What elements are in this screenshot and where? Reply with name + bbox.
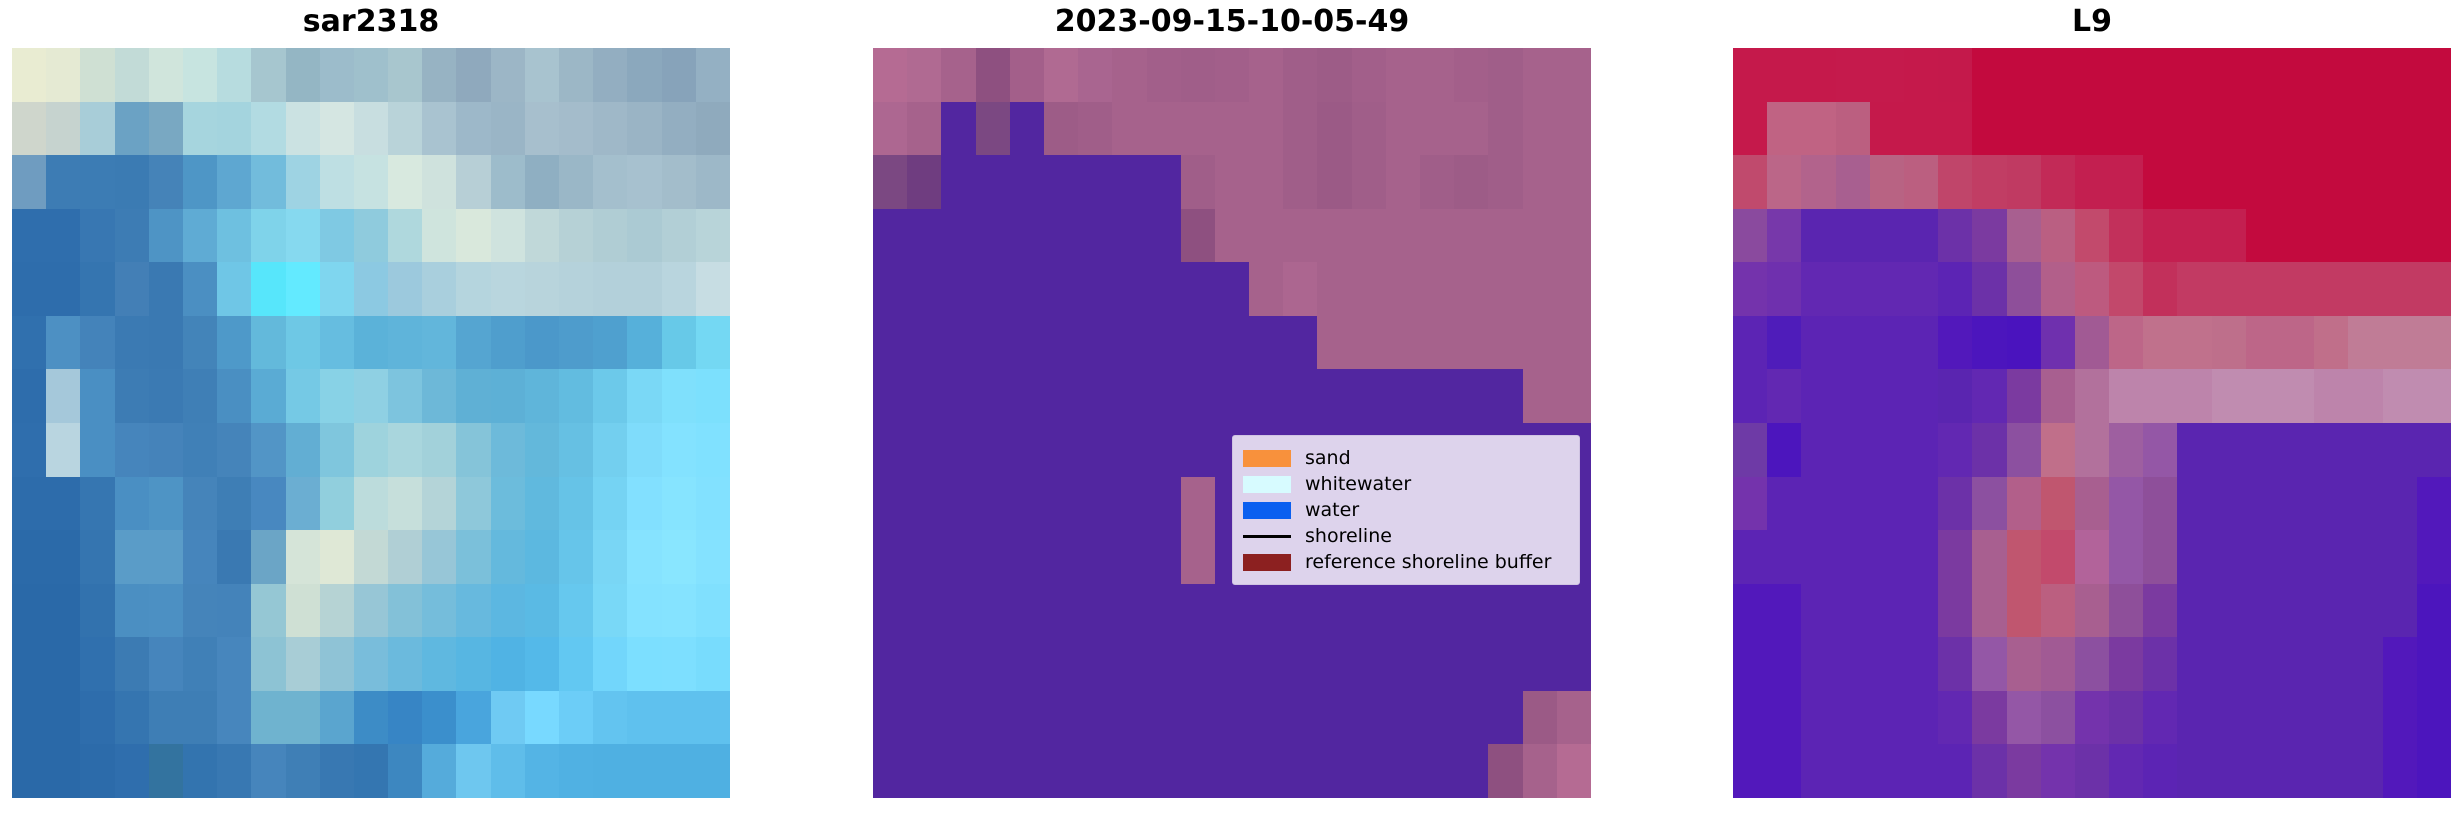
raster-cell	[286, 530, 320, 584]
raster-cell	[941, 423, 975, 477]
raster-cell	[1249, 155, 1283, 209]
raster-cell	[388, 155, 422, 209]
raster-cell	[491, 209, 525, 263]
raster-cell	[320, 316, 354, 370]
raster-cell	[525, 744, 559, 798]
raster-cell	[1523, 102, 1557, 156]
raster-cell	[1488, 369, 1522, 423]
raster-cell	[217, 530, 251, 584]
raster-cell	[2143, 423, 2177, 477]
raster-cell	[1904, 102, 1938, 156]
raster-cell	[1181, 209, 1215, 263]
raster-cell	[1352, 262, 1386, 316]
raster-cell	[2212, 48, 2246, 102]
raster-cell	[2177, 423, 2211, 477]
raster-cell	[1488, 691, 1522, 745]
raster-cell	[217, 423, 251, 477]
raster-cell	[2417, 637, 2451, 691]
raster-cell	[2348, 637, 2382, 691]
raster-cell	[1181, 423, 1215, 477]
raster-cell	[1352, 316, 1386, 370]
raster-cell	[662, 691, 696, 745]
raster-cell	[1078, 477, 1112, 531]
raster-cell	[2177, 584, 2211, 638]
raster-cell	[1523, 209, 1557, 263]
panel-sar: sar2318	[12, 0, 730, 817]
raster-cell	[627, 262, 661, 316]
raster-grid-classification	[873, 48, 1591, 798]
raster-cell	[941, 691, 975, 745]
raster-cell	[1010, 209, 1044, 263]
raster-cell	[1733, 262, 1767, 316]
raster-cell	[559, 744, 593, 798]
raster-cell	[2314, 584, 2348, 638]
raster-cell	[2041, 530, 2075, 584]
raster-cell	[2007, 48, 2041, 102]
legend-item-reference-shoreline-buffer: reference shoreline buffer	[1243, 549, 1569, 575]
raster-cell	[251, 209, 285, 263]
raster-cell	[251, 369, 285, 423]
raster-cell	[559, 209, 593, 263]
raster-cell	[2212, 102, 2246, 156]
raster-cell	[1044, 369, 1078, 423]
raster-cell	[354, 48, 388, 102]
raster-cell	[1557, 691, 1591, 745]
raster-cell	[183, 48, 217, 102]
raster-cell	[115, 530, 149, 584]
raster-cell	[1733, 477, 1767, 531]
raster-cell	[286, 102, 320, 156]
raster-cell	[593, 637, 627, 691]
raster-cell	[1938, 102, 1972, 156]
raster-cell	[1972, 584, 2006, 638]
legend-item-sand: sand	[1243, 445, 1569, 471]
raster-cell	[2280, 155, 2314, 209]
raster-cell	[149, 744, 183, 798]
legend-swatch-shoreline	[1243, 535, 1291, 538]
raster-cell	[2109, 262, 2143, 316]
raster-cell	[354, 316, 388, 370]
raster-cell	[2007, 155, 2041, 209]
raster-cell	[976, 262, 1010, 316]
raster-cell	[1147, 262, 1181, 316]
raster-cell	[2109, 691, 2143, 745]
raster-cell	[2280, 530, 2314, 584]
raster-cell	[2212, 155, 2246, 209]
raster-cell	[320, 369, 354, 423]
raster-cell	[2212, 637, 2246, 691]
raster-cell	[2417, 530, 2451, 584]
raster-cell	[525, 691, 559, 745]
raster-cell	[1488, 744, 1522, 798]
raster-cell	[1181, 155, 1215, 209]
raster-cell	[320, 423, 354, 477]
raster-cell	[286, 262, 320, 316]
raster-cell	[1420, 316, 1454, 370]
raster-cell	[422, 477, 456, 531]
raster-cell	[1938, 691, 1972, 745]
raster-cell	[2383, 423, 2417, 477]
raster-cell	[1870, 637, 1904, 691]
raster-cell	[525, 209, 559, 263]
raster-cell	[2246, 209, 2280, 263]
raster-cell	[1733, 691, 1767, 745]
raster-cell	[1523, 155, 1557, 209]
raster-cell	[1249, 262, 1283, 316]
raster-cell	[2212, 209, 2246, 263]
raster-cell	[696, 584, 730, 638]
raster-cell	[662, 744, 696, 798]
raster-cell	[873, 584, 907, 638]
raster-cell	[2075, 155, 2109, 209]
raster-cell	[388, 477, 422, 531]
raster-cell	[1523, 744, 1557, 798]
raster-cell	[662, 477, 696, 531]
panel-classification: 2023-09-15-10-05-49 sand whitewater wate…	[873, 0, 1591, 817]
raster-cell	[1904, 209, 1938, 263]
raster-cell	[662, 369, 696, 423]
panel-l9: L9	[1733, 0, 2451, 817]
raster-cell	[1044, 316, 1078, 370]
raster-cell	[46, 691, 80, 745]
raster-cell	[941, 369, 975, 423]
raster-cell	[1801, 637, 1835, 691]
raster-cell	[2075, 477, 2109, 531]
raster-cell	[1044, 744, 1078, 798]
raster-cell	[1904, 155, 1938, 209]
raster-cell	[1386, 155, 1420, 209]
raster-cell	[1801, 316, 1835, 370]
raster-cell	[80, 637, 114, 691]
raster-cell	[2417, 155, 2451, 209]
raster-cell	[1801, 423, 1835, 477]
raster-cell	[1147, 316, 1181, 370]
raster-cell	[941, 584, 975, 638]
raster-cell	[696, 530, 730, 584]
raster-cell	[1283, 262, 1317, 316]
raster-cell	[2348, 316, 2382, 370]
raster-cell	[1215, 262, 1249, 316]
raster-cell	[1181, 316, 1215, 370]
raster-grid-sar	[12, 48, 730, 798]
raster-cell	[2246, 155, 2280, 209]
raster-cell	[12, 48, 46, 102]
legend-item-whitewater: whitewater	[1243, 471, 1569, 497]
raster-cell	[1215, 48, 1249, 102]
raster-cell	[251, 262, 285, 316]
raster-cell	[183, 637, 217, 691]
raster-cell	[976, 530, 1010, 584]
raster-cell	[2383, 102, 2417, 156]
raster-cell	[941, 102, 975, 156]
raster-cell	[1317, 209, 1351, 263]
panel-canvas-l9[interactable]	[1733, 48, 2451, 798]
raster-cell	[2007, 744, 2041, 798]
raster-cell	[1801, 102, 1835, 156]
raster-cell	[286, 637, 320, 691]
raster-cell	[149, 155, 183, 209]
raster-cell	[217, 102, 251, 156]
raster-cell	[1733, 209, 1767, 263]
raster-cell	[1836, 369, 1870, 423]
raster-cell	[1938, 423, 1972, 477]
raster-cell	[217, 48, 251, 102]
raster-cell	[2417, 262, 2451, 316]
raster-cell	[873, 209, 907, 263]
raster-cell	[2417, 477, 2451, 531]
raster-cell	[1317, 744, 1351, 798]
raster-cell	[2417, 691, 2451, 745]
raster-cell	[1078, 262, 1112, 316]
raster-cell	[1767, 155, 1801, 209]
raster-cell	[491, 477, 525, 531]
raster-cell	[1078, 584, 1112, 638]
raster-cell	[2348, 48, 2382, 102]
raster-cell	[1249, 584, 1283, 638]
panel-canvas-sar[interactable]	[12, 48, 730, 798]
raster-cell	[1557, 102, 1591, 156]
raster-cell	[2007, 102, 2041, 156]
raster-cell	[1454, 744, 1488, 798]
raster-cell	[2246, 744, 2280, 798]
raster-cell	[559, 48, 593, 102]
raster-cell	[1112, 48, 1146, 102]
raster-cell	[2348, 477, 2382, 531]
raster-cell	[2007, 316, 2041, 370]
raster-cell	[1112, 316, 1146, 370]
raster-cell	[907, 155, 941, 209]
raster-cell	[1112, 744, 1146, 798]
raster-cell	[976, 369, 1010, 423]
raster-cell	[1283, 369, 1317, 423]
raster-cell	[1010, 584, 1044, 638]
raster-cell	[907, 584, 941, 638]
raster-cell	[2075, 102, 2109, 156]
raster-cell	[1147, 48, 1181, 102]
raster-cell	[941, 262, 975, 316]
raster-cell	[1147, 530, 1181, 584]
raster-cell	[1767, 744, 1801, 798]
raster-cell	[1938, 584, 1972, 638]
raster-cell	[1557, 584, 1591, 638]
raster-cell	[1904, 691, 1938, 745]
raster-cell	[1972, 155, 2006, 209]
raster-cell	[1870, 316, 1904, 370]
raster-cell	[2075, 637, 2109, 691]
raster-cell	[2075, 262, 2109, 316]
raster-cell	[2417, 102, 2451, 156]
raster-cell	[1283, 584, 1317, 638]
raster-cell	[559, 155, 593, 209]
raster-cell	[2280, 637, 2314, 691]
raster-cell	[1147, 744, 1181, 798]
raster-cell	[1870, 209, 1904, 263]
raster-cell	[1078, 369, 1112, 423]
raster-cell	[251, 744, 285, 798]
raster-cell	[1938, 530, 1972, 584]
raster-cell	[873, 155, 907, 209]
raster-cell	[1386, 744, 1420, 798]
raster-cell	[1352, 48, 1386, 102]
raster-cell	[2177, 477, 2211, 531]
raster-cell	[1386, 584, 1420, 638]
raster-cell	[1836, 48, 1870, 102]
raster-cell	[354, 637, 388, 691]
raster-cell	[1181, 691, 1215, 745]
raster-cell	[1112, 530, 1146, 584]
raster-cell	[1181, 48, 1215, 102]
raster-cell	[1283, 48, 1317, 102]
raster-cell	[627, 691, 661, 745]
raster-cell	[1767, 102, 1801, 156]
raster-cell	[1112, 584, 1146, 638]
raster-cell	[388, 691, 422, 745]
raster-cell	[1283, 209, 1317, 263]
raster-cell	[115, 477, 149, 531]
raster-cell	[1249, 691, 1283, 745]
raster-cell	[1249, 637, 1283, 691]
raster-cell	[1420, 209, 1454, 263]
raster-cell	[354, 155, 388, 209]
raster-cell	[354, 209, 388, 263]
raster-cell	[2109, 637, 2143, 691]
raster-cell	[873, 691, 907, 745]
raster-cell	[1767, 316, 1801, 370]
raster-cell	[1352, 102, 1386, 156]
raster-cell	[1044, 637, 1078, 691]
raster-cell	[1454, 209, 1488, 263]
raster-cell	[2007, 369, 2041, 423]
raster-cell	[1044, 155, 1078, 209]
raster-cell	[183, 477, 217, 531]
raster-cell	[662, 530, 696, 584]
raster-cell	[491, 262, 525, 316]
raster-cell	[1283, 155, 1317, 209]
raster-cell	[491, 155, 525, 209]
raster-cell	[149, 48, 183, 102]
raster-cell	[354, 369, 388, 423]
raster-cell	[1249, 744, 1283, 798]
raster-cell	[525, 530, 559, 584]
raster-cell	[1938, 744, 1972, 798]
raster-cell	[2075, 691, 2109, 745]
raster-cell	[1044, 423, 1078, 477]
raster-cell	[2041, 477, 2075, 531]
raster-cell	[1557, 262, 1591, 316]
raster-cell	[976, 744, 1010, 798]
raster-cell	[286, 584, 320, 638]
raster-cell	[354, 423, 388, 477]
raster-cell	[1215, 209, 1249, 263]
raster-cell	[46, 584, 80, 638]
raster-cell	[320, 691, 354, 745]
raster-cell	[80, 423, 114, 477]
raster-cell	[2383, 584, 2417, 638]
raster-cell	[2007, 637, 2041, 691]
raster-cell	[873, 369, 907, 423]
raster-cell	[80, 369, 114, 423]
raster-cell	[1386, 48, 1420, 102]
raster-cell	[559, 691, 593, 745]
raster-cell	[1420, 744, 1454, 798]
raster-cell	[1523, 637, 1557, 691]
raster-cell	[1557, 744, 1591, 798]
raster-cell	[1317, 102, 1351, 156]
raster-cell	[907, 691, 941, 745]
raster-cell	[2348, 102, 2382, 156]
raster-cell	[286, 477, 320, 531]
raster-cell	[2314, 744, 2348, 798]
raster-cell	[1147, 637, 1181, 691]
raster-cell	[80, 48, 114, 102]
raster-cell	[2143, 584, 2177, 638]
raster-cell	[12, 155, 46, 209]
raster-cell	[2212, 744, 2246, 798]
raster-cell	[149, 530, 183, 584]
raster-cell	[593, 102, 627, 156]
raster-cell	[46, 477, 80, 531]
raster-cell	[1147, 584, 1181, 638]
raster-cell	[1523, 691, 1557, 745]
raster-cell	[941, 744, 975, 798]
raster-cell	[1317, 691, 1351, 745]
raster-cell	[1147, 477, 1181, 531]
raster-cell	[183, 691, 217, 745]
raster-cell	[2246, 584, 2280, 638]
raster-cell	[388, 102, 422, 156]
raster-cell	[1283, 691, 1317, 745]
raster-cell	[2212, 584, 2246, 638]
raster-cell	[320, 477, 354, 531]
raster-cell	[46, 423, 80, 477]
raster-cell	[456, 477, 490, 531]
raster-cell	[662, 637, 696, 691]
raster-cell	[1112, 102, 1146, 156]
raster-cell	[12, 369, 46, 423]
raster-cell	[183, 262, 217, 316]
raster-cell	[217, 477, 251, 531]
raster-cell	[2246, 369, 2280, 423]
raster-cell	[1488, 262, 1522, 316]
panel-canvas-classification[interactable]: sand whitewater water shoreline referenc…	[873, 48, 1591, 798]
raster-cell	[525, 637, 559, 691]
raster-cell	[2041, 369, 2075, 423]
raster-cell	[1801, 48, 1835, 102]
raster-cell	[2109, 209, 2143, 263]
raster-cell	[1767, 530, 1801, 584]
raster-cell	[1044, 530, 1078, 584]
raster-cell	[12, 691, 46, 745]
raster-cell	[1181, 369, 1215, 423]
raster-cell	[1147, 369, 1181, 423]
raster-cell	[1420, 262, 1454, 316]
raster-cell	[1078, 530, 1112, 584]
raster-cell	[559, 477, 593, 531]
raster-cell	[1938, 262, 1972, 316]
raster-cell	[627, 637, 661, 691]
raster-cell	[559, 637, 593, 691]
raster-cell	[1836, 209, 1870, 263]
raster-cell	[1147, 423, 1181, 477]
raster-cell	[2246, 423, 2280, 477]
raster-cell	[354, 744, 388, 798]
raster-cell	[2075, 744, 2109, 798]
raster-cell	[115, 691, 149, 745]
raster-cell	[907, 209, 941, 263]
raster-cell	[1870, 530, 1904, 584]
raster-cell	[1972, 209, 2006, 263]
raster-cell	[388, 584, 422, 638]
